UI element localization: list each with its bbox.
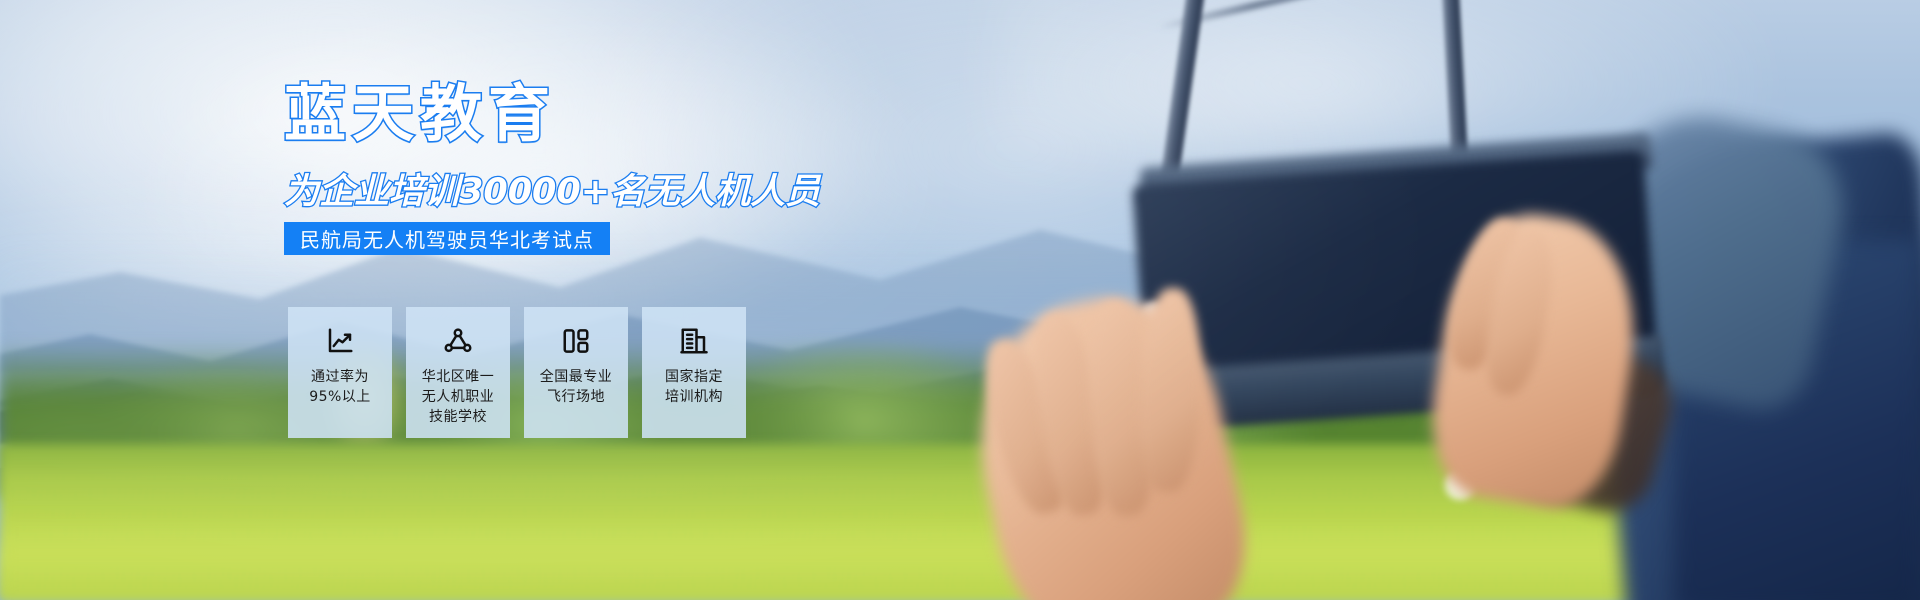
feature-card-label: 全国最专业 飞行场地 [536,368,617,418]
building-office-icon [677,324,711,358]
banner-subtitle: 为企业培训30000+名无人机人员 [284,163,820,214]
banner-title: 蓝天教育 [284,83,556,145]
feature-card-list: 通过率为 95%以上 华北区唯一 无人机职业 技能学校 [288,307,746,438]
feature-card-label: 通过率为 95%以上 [305,368,375,418]
trending-up-chart-icon [323,324,357,358]
feature-card-airfield[interactable]: 全国最专业 飞行场地 [524,307,628,438]
feature-card-school[interactable]: 华北区唯一 无人机职业 技能学校 [406,307,510,438]
feature-card-label: 华北区唯一 无人机职业 技能学校 [418,368,499,438]
hero-banner: 蓝天教育 为企业培训30000+名无人机人员 民航局无人机驾驶员华北考试点 通过… [0,0,1920,600]
feature-card-label: 国家指定 培训机构 [661,368,727,418]
network-nodes-icon [441,324,475,358]
certification-badge: 民航局无人机驾驶员华北考试点 [284,222,610,255]
feature-card-institution[interactable]: 国家指定 培训机构 [642,307,746,438]
banner-content: 蓝天教育 为企业培训30000+名无人机人员 民航局无人机驾驶员华北考试点 通过… [0,0,1920,600]
feature-card-pass-rate[interactable]: 通过率为 95%以上 [288,307,392,438]
layout-panels-icon [559,324,593,358]
